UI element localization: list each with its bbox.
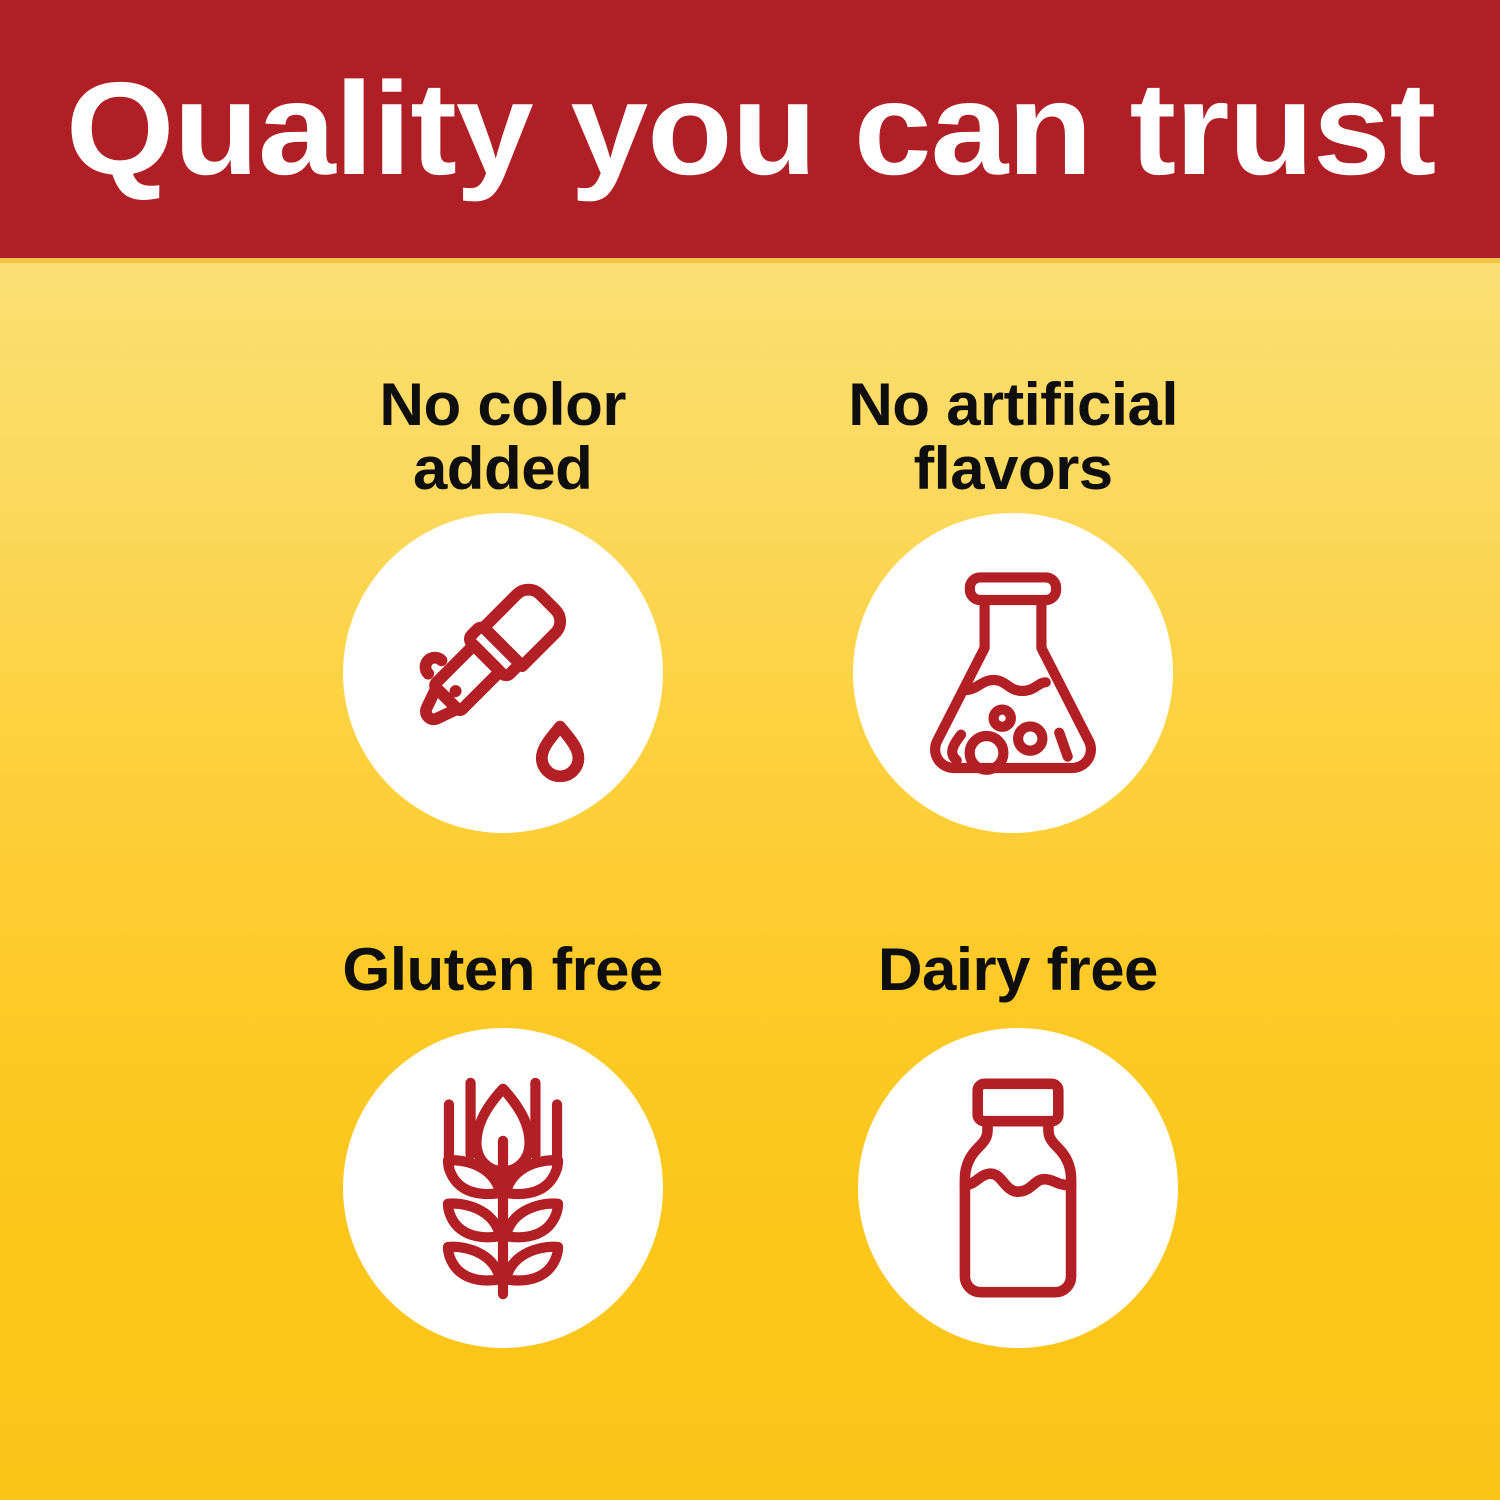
flask-icon: [915, 566, 1111, 781]
icon-circle: [858, 1028, 1178, 1348]
wheat-icon: [403, 1074, 603, 1302]
icon-circle: [853, 513, 1173, 833]
feature-label: No artificial flavors: [848, 373, 1178, 503]
feature-no-artificial-flavors: No artificial flavors: [763, 373, 1263, 833]
feature-grid: No color added: [0, 263, 1500, 1500]
milk-bottle-icon: [933, 1074, 1103, 1302]
page-title: Quality you can trust: [0, 63, 1435, 195]
icon-circle: [343, 1028, 663, 1348]
feature-no-color-added: No color added: [253, 373, 753, 833]
feature-label: Dairy free: [878, 938, 1158, 1014]
feature-label: Gluten free: [343, 938, 664, 1014]
dropper-icon: [394, 564, 612, 782]
feature-dairy-free: Dairy free: [768, 938, 1268, 1348]
feature-label: No color added: [380, 373, 627, 503]
header-banner: Quality you can trust: [0, 0, 1500, 258]
quality-badges-poster: Quality you can trust No color added: [0, 0, 1500, 1500]
icon-circle: [343, 513, 663, 833]
feature-gluten-free: Gluten free: [253, 938, 753, 1348]
